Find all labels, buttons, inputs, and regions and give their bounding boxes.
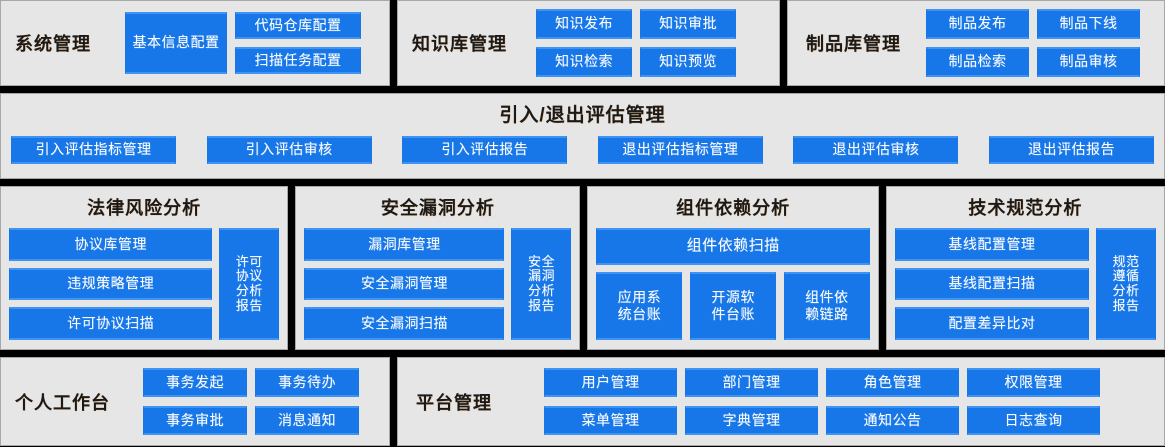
button-product-offline[interactable]: 制品下线 [1037,9,1140,39]
panel-gap [390,0,397,86]
row-evaluation-management: 引入/退出评估管理 引入评估指标管理 引入评估审核 引入评估报告 退出评估指标管… [0,93,1165,179]
button-product-search[interactable]: 制品检索 [926,47,1029,77]
panel-gap [288,186,295,350]
panel-title-knowledge-base-management: 知识库管理 [412,30,536,56]
button-role-management[interactable]: 角色管理 [826,368,959,397]
component-dependency-body: 组件依赖扫描 应用系统台账 开源软件台账 组件依赖链路 [596,228,869,349]
panel-gap [580,186,587,350]
row-top-modules: 系统管理 基本信息配置 代码仓库配置 扫描任务配置 知识库管理 知识发布 知识检… [0,0,1165,86]
button-task-initiate[interactable]: 事务发起 [143,368,247,397]
button-security-vulnerability-scan[interactable]: 安全漏洞扫描 [304,307,504,340]
button-product-audit[interactable]: 制品审核 [1037,47,1140,77]
panel-title-platform-management: 平台管理 [416,389,544,415]
button-message-notification[interactable]: 消息通知 [255,406,359,435]
button-security-analysis-report[interactable]: 安全 漏洞 分析 报告 [511,228,571,340]
panel-security-vulnerability-analysis: 安全漏洞分析 漏洞库管理 安全漏洞管理 安全漏洞扫描 安全 漏洞 分析 报告 [295,186,580,350]
button-task-todo[interactable]: 事务待办 [255,368,359,397]
label-line-2: 赖链路 [805,306,849,322]
row-analysis-modules: 法律风险分析 协议库管理 违规策略管理 许可协议扫描 许可 协议 分析 报告 安… [0,186,1165,350]
report-line: 协议 [236,269,263,284]
report-line: 分析 [528,284,555,299]
panel-title-system-management: 系统管理 [15,30,125,56]
workbench-button-column-2: 事务待办 消息通知 [255,368,359,435]
button-department-management[interactable]: 部门管理 [685,368,818,397]
panel-title-product-repository-management: 制品库管理 [806,30,926,56]
personal-workbench-buttons: 事务发起 事务审批 事务待办 消息通知 [143,368,359,435]
row-gap [0,179,1165,186]
button-entry-eval-review[interactable]: 引入评估审核 [207,136,372,164]
button-exit-eval-report[interactable]: 退出评估报告 [989,136,1154,164]
button-config-difference-comparison[interactable]: 配置差异比对 [895,307,1089,340]
panel-system-management: 系统管理 基本信息配置 代码仓库配置 扫描任务配置 [0,0,390,86]
button-exit-eval-review[interactable]: 退出评估审核 [793,136,958,164]
button-scan-task-config[interactable]: 扫描任务配置 [235,47,361,74]
panel-legal-risk-analysis: 法律风险分析 协议库管理 违规策略管理 许可协议扫描 许可 协议 分析 报告 [0,186,288,350]
button-basic-info-config[interactable]: 基本信息配置 [125,12,227,74]
button-knowledge-publish[interactable]: 知识发布 [536,9,632,39]
knowledge-button-column-2: 知识审批 知识预览 [640,9,736,77]
button-license-analysis-report[interactable]: 许可 协议 分析 报告 [219,228,279,340]
knowledge-base-buttons: 知识发布 知识检索 知识审批 知识预览 [536,9,736,77]
button-user-management[interactable]: 用户管理 [544,368,677,397]
button-permission-management[interactable]: 权限管理 [967,368,1100,397]
panel-title-technical-specification-analysis: 技术规范分析 [895,194,1156,220]
panel-gap [390,357,397,446]
legal-risk-button-column: 协议库管理 违规策略管理 许可协议扫描 [9,228,212,340]
knowledge-button-column-1: 知识发布 知识检索 [536,9,632,77]
panel-title-personal-workbench: 个人工作台 [15,389,143,415]
platform-button-column-2: 部门管理 字典管理 [685,368,818,435]
button-violation-policy-management[interactable]: 违规策略管理 [9,268,212,301]
platform-button-column-1: 用户管理 菜单管理 [544,368,677,435]
button-security-vulnerability-management[interactable]: 安全漏洞管理 [304,268,504,301]
button-knowledge-preview[interactable]: 知识预览 [640,47,736,77]
techspec-button-column: 基线配置管理 基线配置扫描 配置差异比对 [895,228,1089,340]
panel-gap [879,186,886,350]
platform-management-buttons: 用户管理 菜单管理 部门管理 字典管理 角色管理 通知公告 权限管理 日志查询 [544,368,1100,435]
panel-title-legal-risk-analysis: 法律风险分析 [9,194,279,220]
button-exit-eval-indicator-management[interactable]: 退出评估指标管理 [598,136,763,164]
button-component-dependency-scan[interactable]: 组件依赖扫描 [596,228,869,265]
button-knowledge-approval[interactable]: 知识审批 [640,9,736,39]
panel-product-repository-management: 制品库管理 制品发布 制品检索 制品下线 制品审核 [787,0,1165,86]
label-line-2: 统台账 [618,306,662,322]
button-baseline-config-scan[interactable]: 基线配置扫描 [895,268,1089,301]
report-line: 报告 [236,299,263,314]
button-specification-compliance-report[interactable]: 规范 遵循 分析 报告 [1096,228,1156,340]
security-vulnerability-body: 漏洞库管理 安全漏洞管理 安全漏洞扫描 安全 漏洞 分析 报告 [304,228,571,349]
product-button-column-2: 制品下线 制品审核 [1037,9,1140,77]
button-license-agreement-scan[interactable]: 许可协议扫描 [9,307,212,340]
button-component-dependency-chain[interactable]: 组件依赖链路 [784,272,870,340]
security-button-column: 漏洞库管理 安全漏洞管理 安全漏洞扫描 [304,228,504,340]
report-line: 报告 [528,299,555,314]
report-line: 分析 [1112,284,1139,299]
button-application-system-ledger[interactable]: 应用系统台账 [596,272,682,340]
panel-knowledge-base-management: 知识库管理 知识发布 知识检索 知识审批 知识预览 [397,0,780,86]
button-code-repo-config[interactable]: 代码仓库配置 [235,12,361,39]
platform-button-column-4: 权限管理 日志查询 [967,368,1100,435]
panel-technical-specification-analysis: 技术规范分析 基线配置管理 基线配置扫描 配置差异比对 规范 遵循 分析 报告 [886,186,1165,350]
application-map: 系统管理 基本信息配置 代码仓库配置 扫描任务配置 知识库管理 知识发布 知识检… [0,0,1165,447]
legal-risk-body: 协议库管理 违规策略管理 许可协议扫描 许可 协议 分析 报告 [9,228,279,349]
report-line: 漏洞 [528,269,555,284]
button-license-library-management[interactable]: 协议库管理 [9,228,212,261]
button-entry-eval-report[interactable]: 引入评估报告 [402,136,567,164]
button-product-publish[interactable]: 制品发布 [926,9,1029,39]
product-button-column-1: 制品发布 制品检索 [926,9,1029,77]
button-menu-management[interactable]: 菜单管理 [544,406,677,435]
label-line-1: 开源软 [711,289,755,305]
button-vulnerability-library-management[interactable]: 漏洞库管理 [304,228,504,261]
component-dependency-sub-buttons: 应用系统台账 开源软件台账 组件依赖链路 [596,272,869,340]
row-gap [0,86,1165,93]
report-line: 许可 [236,255,263,270]
panel-component-dependency-analysis: 组件依赖分析 组件依赖扫描 应用系统台账 开源软件台账 组件依赖链路 [587,186,878,350]
report-line: 规范 [1112,255,1139,270]
button-baseline-config-management[interactable]: 基线配置管理 [895,228,1089,261]
product-repository-buttons: 制品发布 制品检索 制品下线 制品审核 [926,9,1140,77]
panel-personal-workbench: 个人工作台 事务发起 事务审批 事务待办 消息通知 [0,357,390,446]
label-line-2: 件台账 [711,306,755,322]
report-line: 分析 [236,284,263,299]
button-entry-eval-indicator-management[interactable]: 引入评估指标管理 [11,136,176,164]
button-task-approval[interactable]: 事务审批 [143,406,247,435]
label-line-1: 应用系 [618,289,662,305]
panel-title-security-vulnerability-analysis: 安全漏洞分析 [304,194,571,220]
panel-title-entry-exit-evaluation-management: 引入/退出评估管理 [1,100,1164,127]
row-gap [0,350,1165,357]
panel-title-component-dependency-analysis: 组件依赖分析 [596,194,869,220]
platform-button-column-3: 角色管理 通知公告 [826,368,959,435]
button-open-source-software-ledger[interactable]: 开源软件台账 [690,272,776,340]
report-line: 报告 [1112,299,1139,314]
workbench-button-column-1: 事务发起 事务审批 [143,368,247,435]
evaluation-buttons: 引入评估指标管理 引入评估审核 引入评估报告 退出评估指标管理 退出评估审核 退… [1,136,1164,164]
system-management-buttons: 基本信息配置 代码仓库配置 扫描任务配置 [125,12,361,74]
row-bottom-modules: 个人工作台 事务发起 事务审批 事务待办 消息通知 平台管理 用户管理 菜单管理 [0,357,1165,446]
report-line: 安全 [528,255,555,270]
panel-gap [780,0,787,86]
panel-entry-exit-evaluation-management: 引入/退出评估管理 引入评估指标管理 引入评估审核 引入评估报告 退出评估指标管… [0,93,1165,179]
report-line: 遵循 [1112,269,1139,284]
label-line-1: 组件依 [805,289,849,305]
panel-platform-management: 平台管理 用户管理 菜单管理 部门管理 字典管理 角色管理 通知公告 权限管理 … [397,357,1165,446]
system-management-button-column: 代码仓库配置 扫描任务配置 [235,12,361,74]
button-log-query[interactable]: 日志查询 [967,406,1100,435]
button-notification-announcement[interactable]: 通知公告 [826,406,959,435]
button-knowledge-search[interactable]: 知识检索 [536,47,632,77]
button-dictionary-management[interactable]: 字典管理 [685,406,818,435]
technical-specification-body: 基线配置管理 基线配置扫描 配置差异比对 规范 遵循 分析 报告 [895,228,1156,349]
